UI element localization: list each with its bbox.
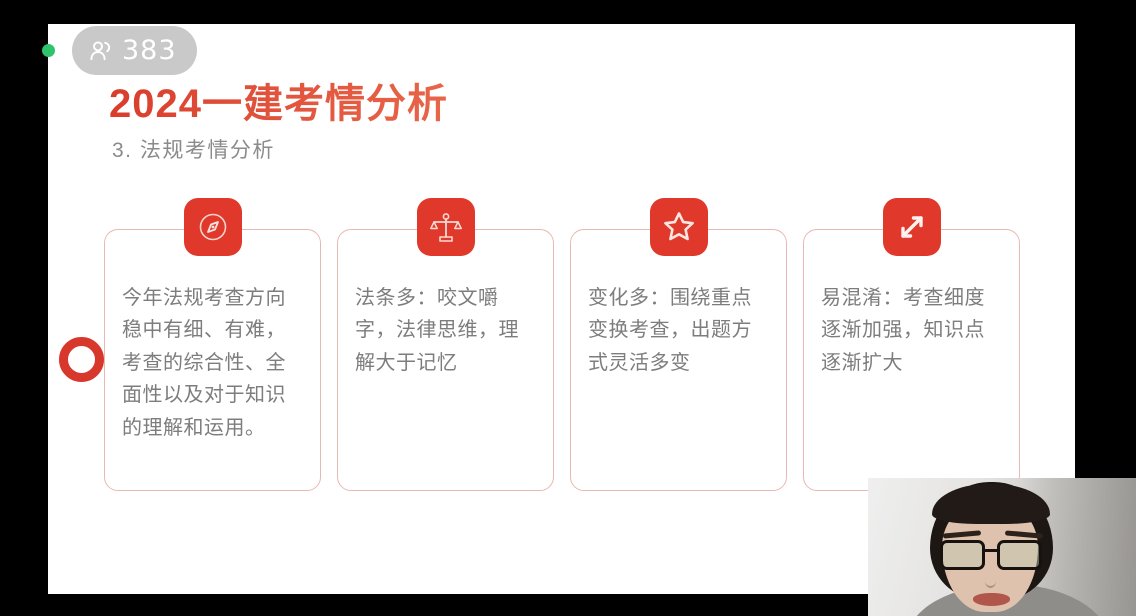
video-player-stage: 2024一建考情分析 3. 法规考情分析 今年法规考查方向稳中有细、有难，考查的… — [0, 0, 1136, 616]
info-card-text: 易混淆：考查细度逐渐加强，知识点逐渐扩大 — [821, 282, 1002, 379]
presenter-video-overlay[interactable] — [868, 478, 1136, 616]
star-icon — [650, 198, 708, 256]
compass-icon — [184, 198, 242, 256]
people-icon — [88, 38, 114, 64]
viewer-count-badge: 383 — [72, 26, 197, 75]
slide-subtitle: 3. 法规考情分析 — [112, 134, 275, 164]
viewer-count-value: 383 — [122, 37, 177, 64]
info-card: 易混淆：考查细度逐渐加强，知识点逐渐扩大 — [803, 229, 1020, 491]
scales-of-justice-icon — [417, 198, 475, 256]
info-card-row: 今年法规考查方向稳中有细、有难，考查的综合性、全面性以及对于知识的理解和运用。 … — [104, 229, 1020, 491]
live-status-dot — [42, 44, 55, 57]
info-card-text: 变化多：围绕重点变换考查，出题方式灵活多变 — [588, 282, 769, 379]
info-card: 法条多：咬文嚼字，法律思维，理解大于记忆 — [337, 229, 554, 491]
info-card-text: 法条多：咬文嚼字，法律思维，理解大于记忆 — [355, 282, 536, 379]
decorative-ring — [59, 337, 104, 382]
presenter-mouth — [973, 593, 1011, 606]
presenter-nose — [985, 574, 996, 588]
page-title: 2024一建考情分析 — [109, 82, 448, 126]
glasses-lens-right — [997, 540, 1042, 570]
presenter-glasses — [940, 540, 1042, 570]
info-card: 今年法规考查方向稳中有细、有难，考查的综合性、全面性以及对于知识的理解和运用。 — [104, 229, 321, 491]
glasses-lens-left — [940, 540, 985, 570]
info-card-text: 今年法规考查方向稳中有细、有难，考查的综合性、全面性以及对于知识的理解和运用。 — [122, 282, 303, 444]
expand-arrows-icon — [883, 198, 941, 256]
glasses-bridge — [985, 549, 997, 552]
info-card: 变化多：围绕重点变换考查，出题方式灵活多变 — [570, 229, 787, 491]
